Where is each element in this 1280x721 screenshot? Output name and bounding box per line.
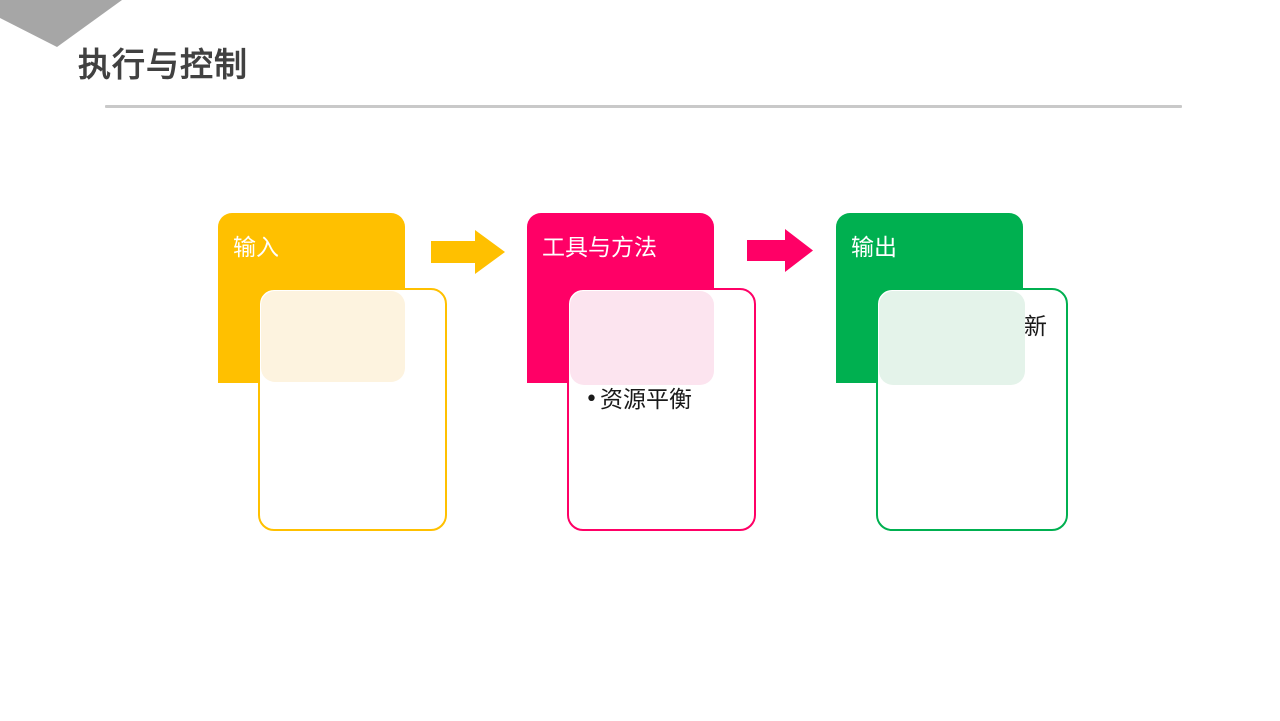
bullet-dot-icon: •	[894, 312, 909, 341]
bullet-dot-icon: •	[276, 312, 291, 341]
bullet-dot-icon: •	[585, 348, 600, 377]
input-header-label: 输入	[233, 235, 279, 263]
arrow-tools-to-output	[747, 229, 813, 272]
output-header-label: 输出	[851, 235, 897, 263]
output-body-card[interactable]: • 进度计划更新	[876, 288, 1068, 531]
list-item: • 进度压缩	[585, 348, 742, 378]
list-item-label: 进度压缩	[600, 348, 742, 378]
tools-body-card[interactable]: • 偏差分析 • 进度压缩 • 资源平衡	[567, 288, 756, 531]
list-item: • 资源平衡	[585, 385, 742, 415]
input-bullet-list: • 进度计划	[260, 290, 445, 348]
list-item: • 进度计划	[276, 312, 433, 342]
input-body-card[interactable]: • 进度计划	[258, 288, 447, 531]
list-item-label: 进度计划更新	[909, 312, 1054, 342]
tools-header-label: 工具与方法	[542, 235, 657, 263]
tools-bullet-list: • 偏差分析 • 进度压缩 • 资源平衡	[569, 290, 754, 421]
output-bullet-list: • 进度计划更新	[878, 290, 1066, 348]
list-item: • 偏差分析	[585, 312, 742, 342]
list-item-label: 进度计划	[291, 312, 433, 342]
list-item: • 进度计划更新	[894, 312, 1054, 342]
slide-canvas: 执行与控制 输入 • 进度计划	[0, 0, 1280, 721]
list-item-label: 偏差分析	[600, 312, 742, 342]
bullet-dot-icon: •	[585, 312, 600, 341]
list-item-label: 资源平衡	[600, 385, 742, 415]
bullet-dot-icon: •	[585, 385, 600, 414]
arrow-input-to-tools	[431, 230, 505, 274]
process-flow-diagram: 输入 • 进度计划 工具与方法	[0, 0, 1280, 721]
